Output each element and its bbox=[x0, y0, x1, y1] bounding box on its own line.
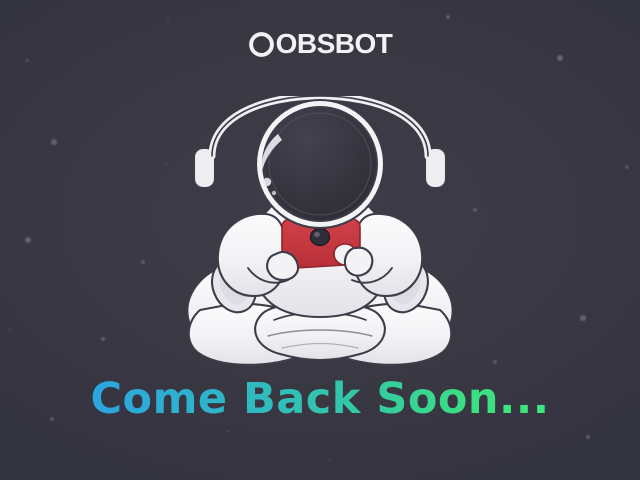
star bbox=[101, 337, 106, 342]
star bbox=[329, 459, 331, 461]
headline-container: Come Back Soon... bbox=[0, 378, 640, 421]
astronaut-group bbox=[187, 96, 452, 365]
star bbox=[227, 430, 230, 433]
headline-text: Come Back Soon... bbox=[90, 378, 549, 421]
tablet-lens-icon bbox=[311, 229, 330, 246]
star bbox=[493, 360, 497, 364]
astronaut-illustration bbox=[170, 96, 470, 371]
star bbox=[446, 15, 451, 20]
star bbox=[141, 260, 145, 264]
astronaut-helmet bbox=[194, 96, 446, 228]
star bbox=[165, 163, 168, 166]
aperture-o-icon bbox=[248, 31, 275, 58]
star bbox=[586, 435, 591, 440]
star bbox=[26, 59, 29, 62]
star bbox=[167, 18, 169, 20]
brand-logo: OBSBOT bbox=[0, 30, 640, 58]
brand-logo-text: OBSBOT bbox=[276, 30, 393, 58]
star bbox=[25, 237, 31, 243]
star bbox=[51, 139, 56, 144]
star bbox=[580, 315, 585, 320]
star bbox=[625, 165, 628, 168]
page-root: OBSBOT bbox=[0, 0, 640, 480]
star bbox=[9, 329, 12, 332]
star bbox=[473, 208, 477, 212]
